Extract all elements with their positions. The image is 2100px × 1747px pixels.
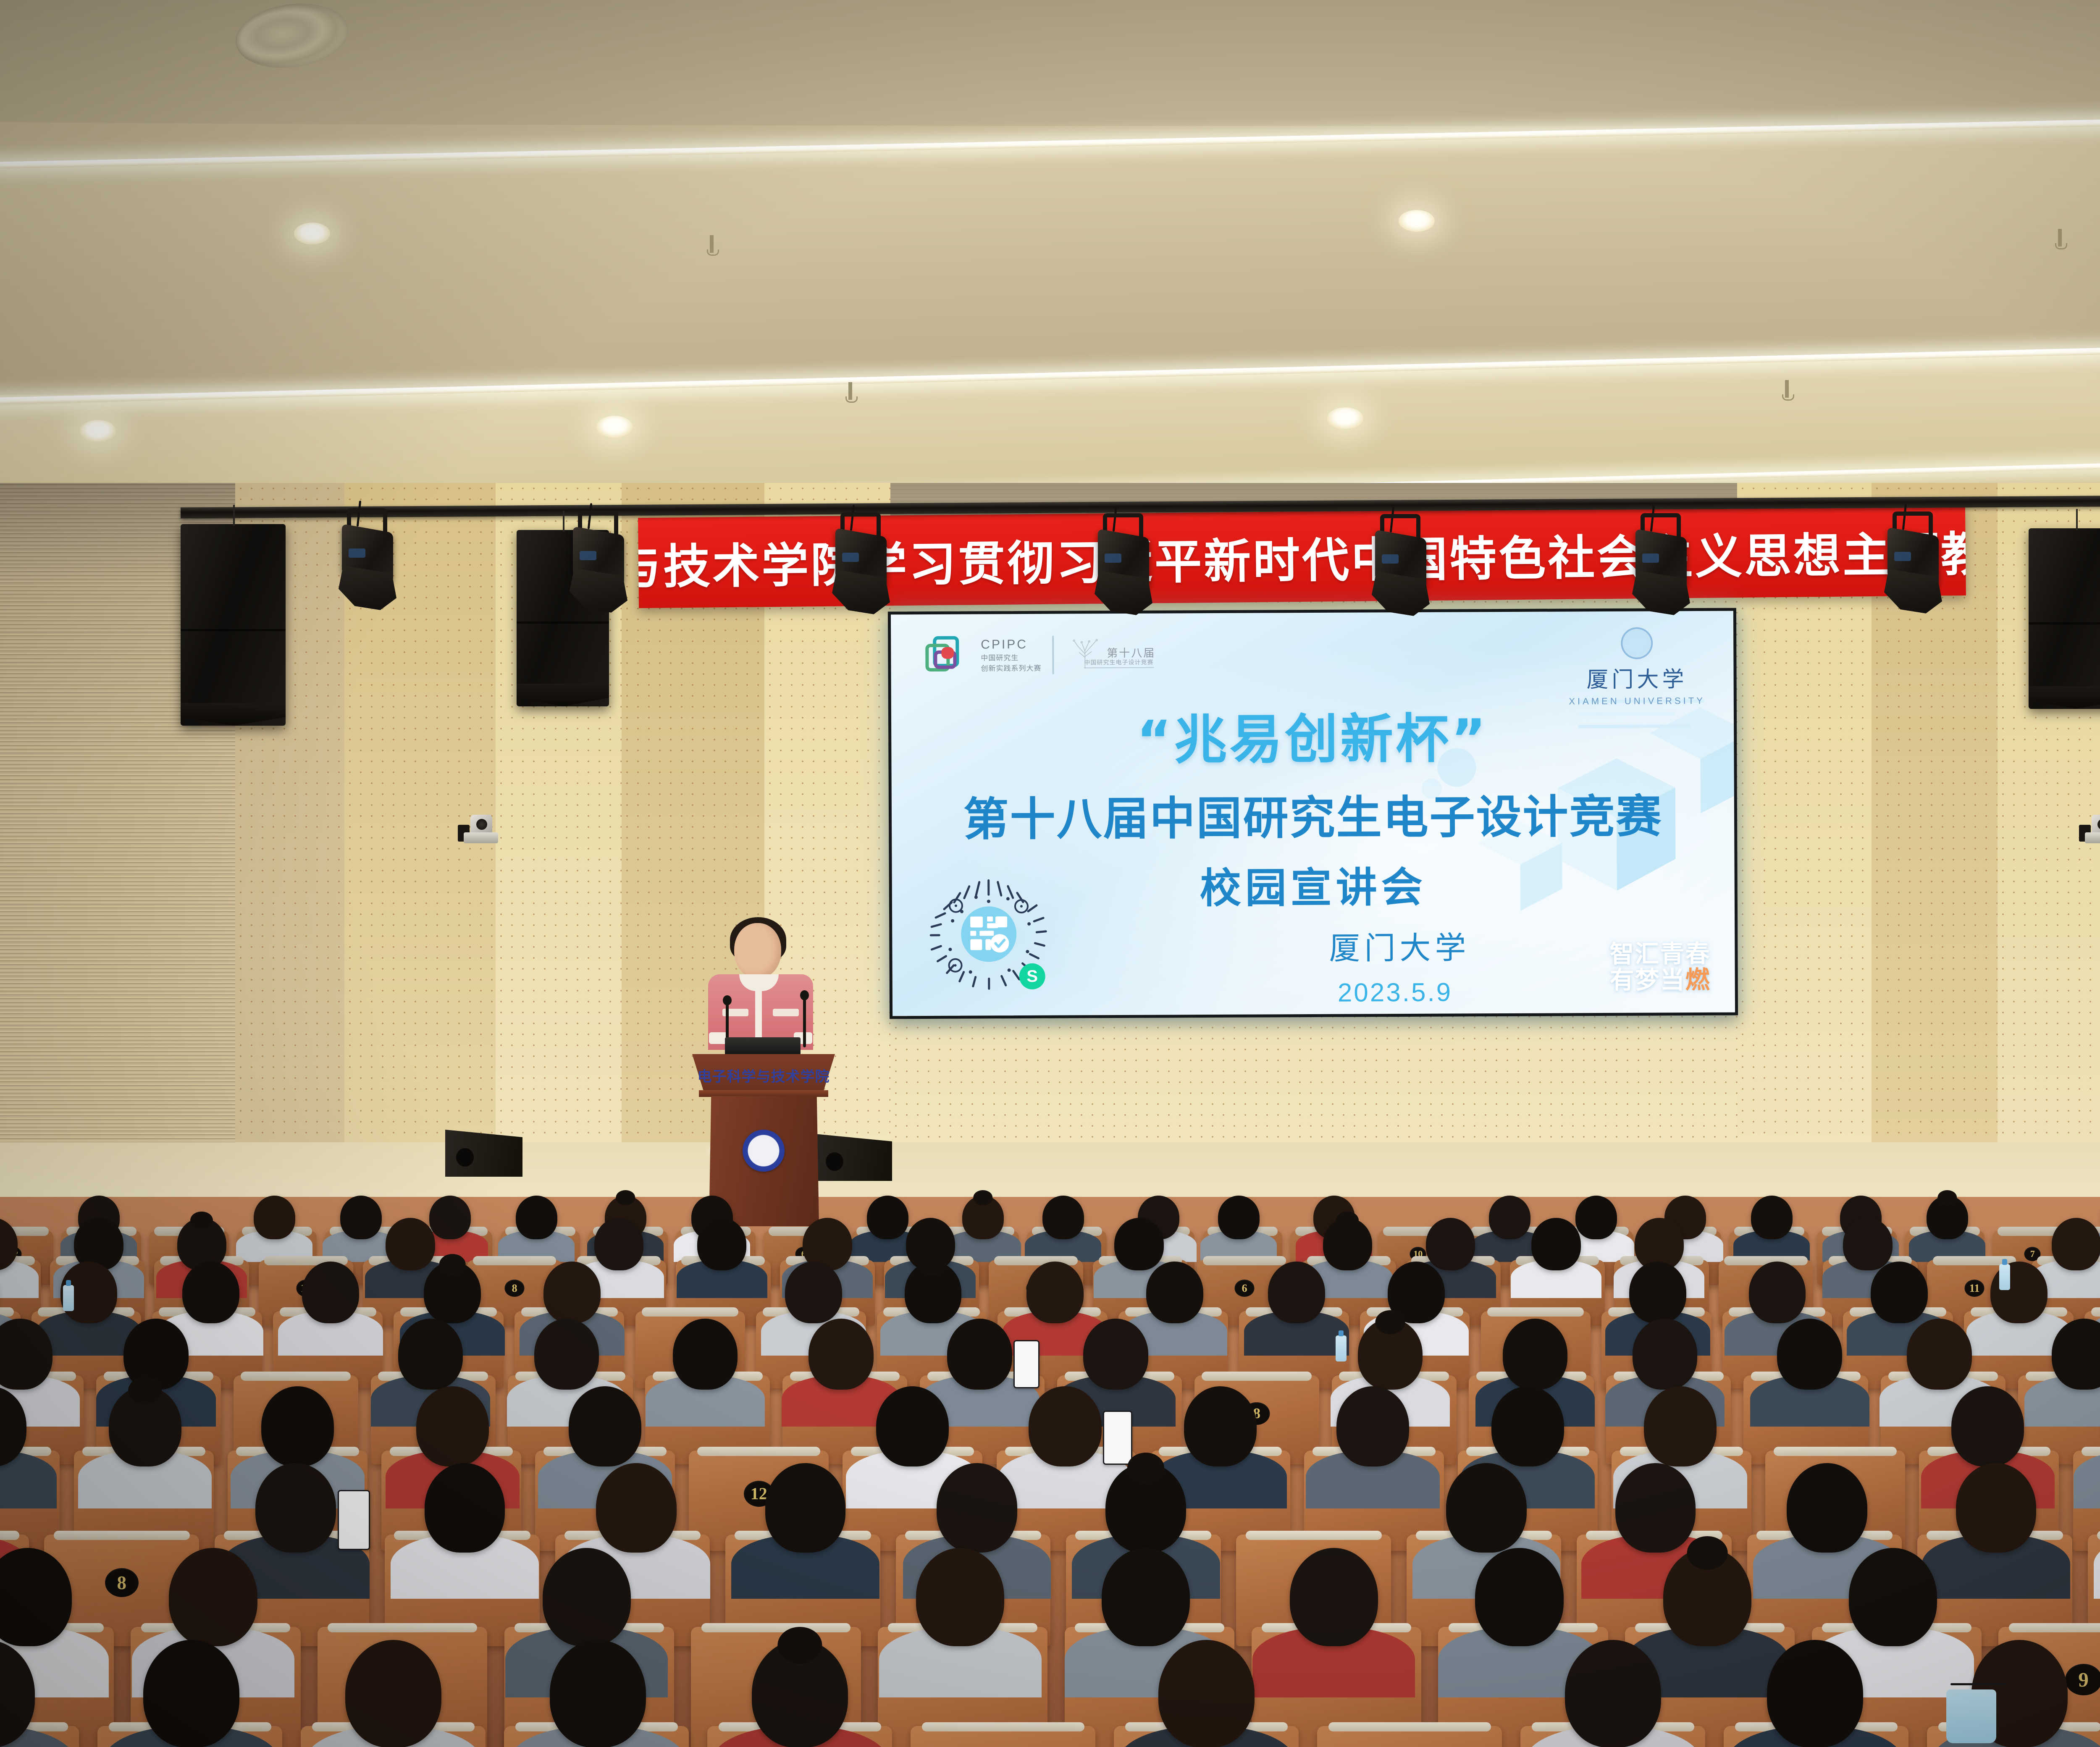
audience-member-head	[1218, 1196, 1260, 1239]
audience-member-head	[1336, 1386, 1409, 1466]
audience-member-head	[1629, 1262, 1686, 1323]
slide-organization: 厦门大学	[1329, 923, 1470, 968]
stage-light	[1630, 513, 1693, 618]
presenter-placket	[755, 987, 762, 1037]
ceiling-hook	[2058, 229, 2062, 247]
audience-member-head	[1767, 1640, 1863, 1747]
miniprogram-badge-icon: S	[1019, 963, 1045, 989]
audience-member-head	[1042, 1196, 1084, 1239]
line-array-speaker	[181, 524, 286, 726]
audience-member-head	[596, 1463, 677, 1553]
audience-member-head	[765, 1463, 846, 1553]
audience-member-head	[123, 1319, 189, 1390]
audience-member-head	[534, 1319, 599, 1390]
audience-member-head	[543, 1262, 601, 1323]
auditorium-photo: 电子科学与技术学院学习贯彻习近平新时代中国特色社会主义思想主题教育动员会	[0, 0, 2100, 1747]
lectern-lip	[699, 1090, 828, 1097]
podium-area: 电子科学与技术学院	[672, 915, 848, 1226]
university-name-cn: 厦门大学	[1569, 661, 1705, 693]
downlight	[1327, 407, 1363, 429]
audience-member-head	[2052, 1218, 2100, 1271]
audience-member-head	[1843, 1218, 1892, 1271]
university-seal-icon	[1621, 627, 1653, 659]
audience-member-head	[416, 1386, 489, 1466]
seat-number-plate: 6	[1235, 1280, 1255, 1296]
audience-member-head	[1565, 1640, 1661, 1747]
audience-member-head	[569, 1386, 641, 1466]
slide-title: “兆易创新杯”	[891, 695, 1734, 775]
audience-member-head	[429, 1196, 471, 1239]
audience-member-head	[867, 1196, 908, 1239]
audience-member-head	[808, 1319, 874, 1390]
slogan-line-2: 有梦当	[1610, 966, 1685, 995]
eyeglasses	[1950, 1683, 2006, 1685]
presenter-pocket	[773, 1009, 799, 1016]
audience-member-head	[1956, 1463, 2037, 1553]
slogan-line-1: 智汇青春	[1609, 939, 1710, 968]
audience-member-head	[1927, 1196, 1968, 1239]
university-emblem-icon	[743, 1130, 785, 1172]
stage-light	[1369, 514, 1432, 619]
audience-member-head	[340, 1196, 382, 1239]
cpipc-cn-line2: 创新实践系列大赛	[981, 662, 1041, 673]
audience-member-head	[302, 1262, 359, 1323]
audience-member-head	[345, 1640, 441, 1747]
smartphone[interactable]	[1013, 1340, 1039, 1388]
audience-member-head	[1105, 1463, 1186, 1553]
audience-member-head	[1749, 1262, 1806, 1323]
water-bottle	[1336, 1335, 1347, 1361]
audience-member-head	[1446, 1463, 1527, 1553]
audience-member-head	[143, 1640, 239, 1747]
face-mask	[1946, 1689, 1996, 1743]
audience-member-head	[1146, 1262, 1203, 1323]
audience-member-head	[916, 1548, 1004, 1646]
edition-rule	[1084, 667, 1154, 669]
audience-member-head	[1426, 1218, 1475, 1271]
audience-member-head	[1026, 1262, 1084, 1323]
qr-center	[961, 906, 1017, 962]
audience-member-head	[255, 1463, 336, 1553]
downlight	[1399, 210, 1435, 232]
ptz-camera-icon	[458, 811, 498, 843]
projection-screen: CPIPC 中国研究生 创新实践系列大赛 第十八届	[888, 608, 1738, 1019]
wechat-miniprogram-qr-icon[interactable]: S	[926, 871, 1052, 997]
audience-member-head	[905, 1262, 962, 1323]
stage-light	[1882, 512, 1945, 616]
audience-member-head	[1268, 1262, 1325, 1323]
audience-member-head	[398, 1319, 463, 1390]
edition-cn: 中国研究生电子设计竞赛	[1084, 658, 1153, 667]
audience-member-head	[1102, 1548, 1190, 1646]
audience-member-head	[752, 1640, 848, 1747]
ceiling	[0, 0, 2100, 517]
ceiling-hook	[1785, 380, 1789, 398]
audience-member-head	[1633, 1319, 1698, 1390]
audience-member-head	[947, 1319, 1012, 1390]
audience-member-head	[516, 1196, 557, 1239]
audience-member-head	[1489, 1196, 1530, 1239]
water-bottle	[63, 1285, 74, 1311]
ceiling-hook	[710, 235, 714, 253]
audience-member-head	[1323, 1218, 1372, 1271]
auditorium-seat[interactable]	[911, 1726, 1095, 1747]
lectern-nameplate: 电子科学与技术学院	[692, 1065, 835, 1086]
audience-member-head	[1531, 1218, 1580, 1271]
audience-member-head	[1491, 1386, 1564, 1466]
cpipc-cn-line1: 中国研究生	[981, 652, 1041, 663]
audience-member-head	[1951, 1386, 2024, 1466]
audience-member-head	[1615, 1463, 1696, 1553]
audience-member-head	[937, 1463, 1017, 1553]
audience-member-head	[1907, 1319, 1972, 1390]
stage-light	[567, 511, 630, 616]
audience-member-head	[1871, 1262, 1928, 1323]
audience-member-head	[1849, 1548, 1937, 1646]
audience-member-head	[1663, 1548, 1751, 1646]
audience-member-head	[962, 1196, 1004, 1239]
audience-member-head	[785, 1262, 842, 1323]
slogan-highlight: 燃	[1685, 965, 1711, 994]
audience-member-head	[1114, 1218, 1163, 1271]
audience-member-head	[1751, 1196, 1793, 1239]
audience-member-head	[424, 1262, 481, 1323]
audience-member-head	[386, 1218, 435, 1271]
audience-member-head	[1290, 1548, 1378, 1646]
audience-member-head	[594, 1218, 643, 1271]
audience-member-head	[1777, 1319, 1842, 1390]
audience-member-head	[1475, 1548, 1563, 1646]
audience-member-head	[182, 1262, 239, 1323]
audience-member-head	[169, 1548, 257, 1646]
seat-number-plate: 11	[1965, 1280, 1984, 1296]
downlight	[596, 416, 633, 438]
slide-date: 2023.5.9	[1338, 978, 1453, 1008]
slide-subtitle: 第十八届中国研究生电子设计竞赛	[892, 780, 1735, 849]
slide-logo-group: CPIPC 中国研究生 创新实践系列大赛 第十八届	[924, 634, 1161, 677]
stage-light	[1092, 513, 1155, 618]
audience-member-head	[1575, 1196, 1617, 1239]
water-bottle	[1999, 1264, 2010, 1290]
smartphone[interactable]	[338, 1490, 370, 1550]
stage-light	[829, 512, 892, 617]
ceiling-hook	[848, 382, 852, 400]
smartphone[interactable]	[1103, 1411, 1132, 1465]
audience-member-head	[876, 1386, 949, 1466]
edition-logo: 第十八届 中国研究生电子设计竞赛	[1065, 634, 1161, 676]
cpipc-acronym: CPIPC	[981, 637, 1041, 652]
audience-member-head	[425, 1463, 505, 1553]
audience-member-head	[109, 1386, 181, 1466]
audience-member-head	[261, 1386, 334, 1466]
audience-member-head	[1184, 1386, 1257, 1466]
floor-monitor-speaker	[445, 1130, 522, 1177]
slide-slogan: 智汇青春 有梦当燃	[1609, 941, 1711, 994]
ptz-camera-icon	[2079, 811, 2100, 843]
audience-member-head	[1787, 1463, 1867, 1553]
audience-member-head	[550, 1640, 646, 1747]
seat-number-plate: 8	[105, 1568, 139, 1597]
audience-member-head	[1029, 1386, 1101, 1466]
auditorium-seat[interactable]	[1317, 1726, 1502, 1747]
downlight	[294, 223, 330, 244]
audience-member-head	[1358, 1319, 1423, 1390]
audience-member-head	[254, 1196, 295, 1239]
cpipc-logo-icon	[924, 635, 970, 677]
line-array-speaker	[2029, 528, 2100, 709]
audience-member-head	[1644, 1386, 1717, 1466]
audience-member-head	[697, 1218, 746, 1271]
audience-member-head	[1503, 1319, 1568, 1390]
presenter-head	[734, 923, 781, 978]
microphone-icon	[803, 998, 806, 1047]
audience-member-head	[673, 1319, 738, 1390]
audience-member-head	[1158, 1640, 1255, 1747]
audience-member-head	[543, 1548, 631, 1646]
audience-member-head	[1083, 1319, 1148, 1390]
stage-light	[336, 508, 399, 613]
seat-number-plate: 9	[2065, 1664, 2100, 1696]
downlight	[80, 420, 116, 442]
seat-number-plate: 8	[505, 1280, 525, 1296]
logo-divider	[1052, 636, 1054, 674]
